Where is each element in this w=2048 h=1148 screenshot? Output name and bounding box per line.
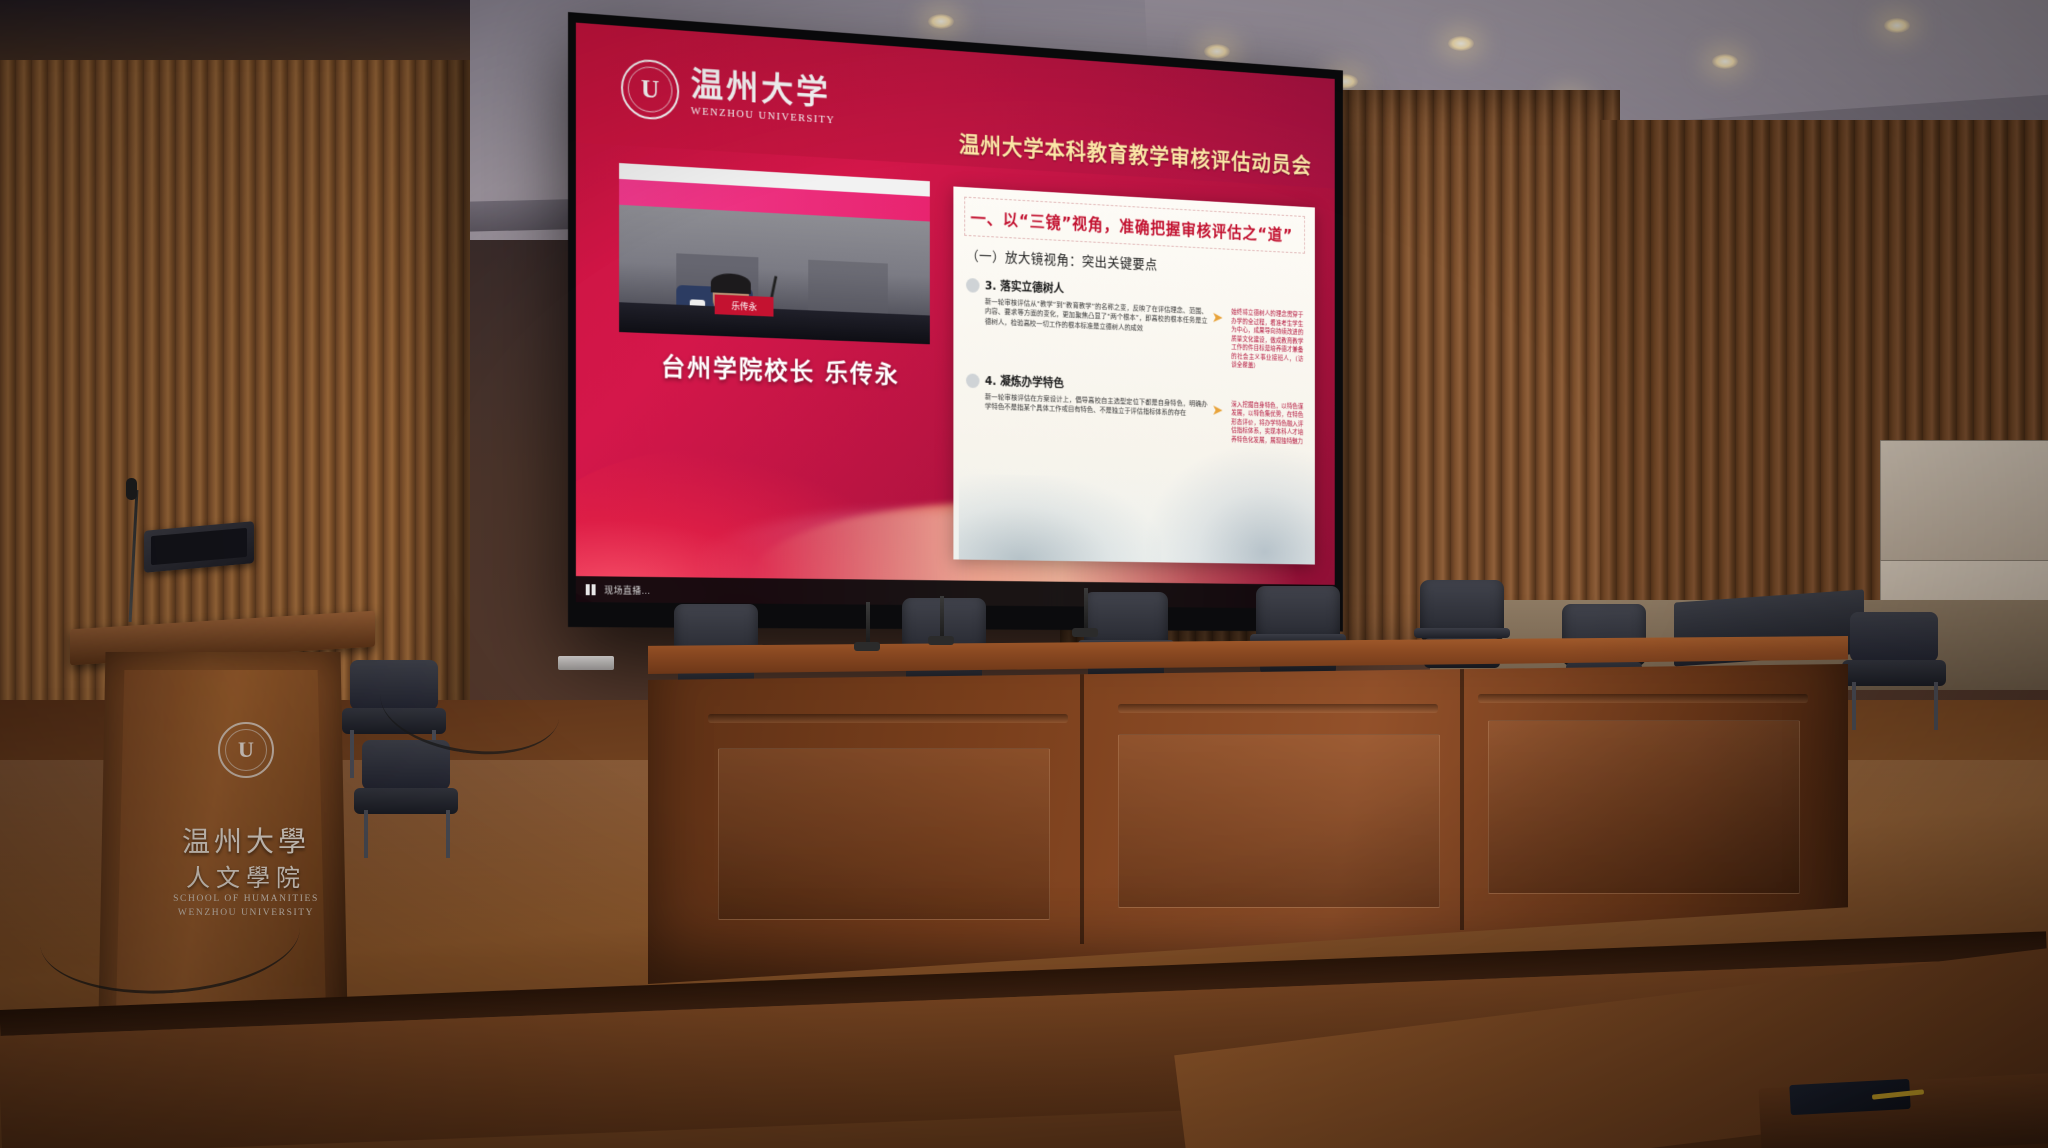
chevron-right-icon: ➤: [1212, 400, 1227, 419]
section-note: 始终将立德树人的理念贯穿于办学的全过程，看准考生学生为中心，成果导向持续改进的质…: [1231, 308, 1303, 373]
downlight-icon: [928, 14, 954, 29]
chevron-right-icon: ➤: [1212, 307, 1227, 326]
ink-wash-decoration: [959, 474, 1162, 563]
speaker-hair: [711, 273, 751, 294]
player-spacer: [658, 590, 1293, 596]
slide-content-card: 一、以“三镜”视角，准确把握审核评估之“道” （一）放大镜视角：突出关键要点 3…: [953, 186, 1314, 564]
table-carving: [1478, 694, 1808, 703]
podium-crest-icon: U: [218, 722, 274, 778]
logo-name-cn: 温州大学: [691, 68, 836, 111]
downlight-icon: [1712, 54, 1738, 69]
led-display-screen[interactable]: U 温州大学 WENZHOU UNIVERSITY 温州大学本科教育教学审核评估…: [576, 23, 1335, 609]
table-microphone-base: [854, 642, 880, 651]
table-nameplate: [558, 656, 614, 670]
video-nameplate: 乐传永: [715, 294, 774, 316]
slide-heading-box: 一、以“三镜”视角，准确把握审核评估之“道”: [964, 197, 1305, 254]
table-microphone: [940, 596, 944, 640]
crest-monogram: U: [641, 74, 659, 105]
wall-panel-upper: [1880, 440, 2048, 562]
podium-crest-monogram: U: [238, 737, 254, 763]
downlight-icon: [1204, 44, 1230, 59]
meeting-title: 温州大学本科教育教学审核评估动员会: [959, 126, 1312, 180]
slide-heading: 一、以“三镜”视角，准确把握审核评估之“道”: [971, 205, 1300, 246]
table-panel: [718, 748, 1050, 920]
speaker-caption: 台州学院校长 乐传永: [619, 346, 939, 393]
table-carving: [708, 714, 1068, 723]
downlight-icon: [1448, 36, 1474, 51]
slide-section: 3. 落实立德树人 新一轮审核评估从“教学”到“教育教学”的名称之变，反映了在评…: [966, 276, 1303, 373]
pause-icon[interactable]: [586, 584, 597, 595]
table-microphone: [866, 602, 870, 646]
bullet-dot-icon: [966, 278, 979, 293]
section-body: 新一轮审核评估在方案设计上，倡导高校自主选型定位下都是自身特色，明确办学特色不是…: [985, 392, 1208, 419]
table-microphone-base: [928, 636, 954, 645]
bullet-dot-icon: [966, 373, 979, 388]
table-microphone: [1084, 588, 1088, 632]
university-crest-icon: U: [621, 58, 679, 121]
microphone-icon: [126, 478, 137, 500]
wall-top-shadow-left: [0, 0, 470, 60]
ink-wash-decoration: [1146, 441, 1315, 565]
slide-section: 4. 凝炼办学特色 新一轮审核评估在方案设计上，倡导高校自主选型定位下都是自身特…: [966, 371, 1303, 446]
video-room-background: 乐传永: [619, 205, 930, 345]
table-panel: [1488, 720, 1800, 894]
video-nameplate-label: 乐传永: [731, 299, 757, 313]
table-microphone-base: [1072, 628, 1098, 637]
table-panel: [1118, 734, 1440, 908]
led-display-frame: U 温州大学 WENZHOU UNIVERSITY 温州大学本科教育教学审核评估…: [568, 12, 1343, 632]
table-seam: [1460, 664, 1464, 930]
table-carving: [1118, 704, 1438, 713]
table-seam: [1080, 664, 1084, 944]
university-logo: U 温州大学 WENZHOU UNIVERSITY: [621, 58, 835, 131]
speaker-video-inset[interactable]: 乐传永: [619, 163, 930, 344]
section-note: 深入挖掘自身特色，以特色谋发展，以特色集优势，在特色形态评价，将办学特色融入评估…: [1231, 400, 1303, 446]
section-body: 新一轮审核评估从“教学”到“教育教学”的名称之变，反映了在评估理念、范围、内容、…: [985, 297, 1208, 336]
player-status-label: 现场直播…: [604, 583, 650, 596]
table-front-panel: [648, 664, 1848, 984]
conference-hall-scene: U 温州大学 WENZHOU UNIVERSITY 温州大学本科教育教学审核评估…: [0, 0, 2048, 1148]
downlight-icon: [1884, 18, 1910, 33]
